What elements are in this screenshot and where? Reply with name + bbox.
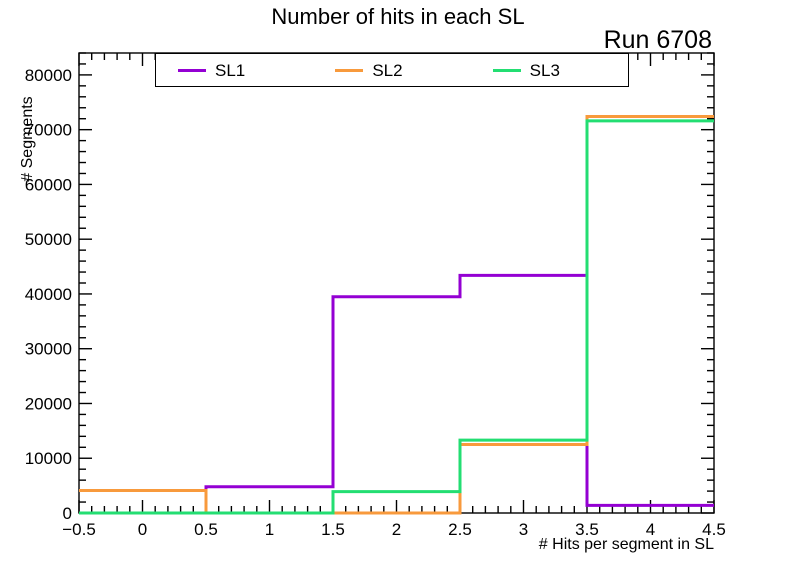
svg-text:30000: 30000 — [25, 340, 72, 359]
legend-entry-sl1: SL1 — [156, 62, 313, 79]
svg-text:50000: 50000 — [25, 230, 72, 249]
legend-swatch-sl1 — [178, 69, 206, 72]
chart-canvas: Number of hits in each SL Run 6708 # Seg… — [0, 0, 796, 572]
svg-text:0: 0 — [138, 520, 147, 539]
svg-text:60000: 60000 — [25, 175, 72, 194]
histogram-series — [79, 117, 714, 513]
svg-text:4.5: 4.5 — [702, 520, 726, 539]
legend: SL1 SL2 SL3 — [155, 53, 629, 87]
legend-swatch-sl2 — [335, 69, 363, 72]
svg-text:70000: 70000 — [25, 121, 72, 140]
svg-text:2: 2 — [392, 520, 401, 539]
svg-text:1: 1 — [265, 520, 274, 539]
legend-label-sl3: SL3 — [530, 62, 560, 79]
legend-label-sl2: SL2 — [372, 62, 402, 79]
svg-text:10000: 10000 — [25, 449, 72, 468]
legend-entry-sl2: SL2 — [313, 62, 470, 79]
svg-text:3: 3 — [519, 520, 528, 539]
svg-text:20000: 20000 — [25, 394, 72, 413]
legend-entry-sl3: SL3 — [471, 62, 628, 79]
svg-text:40000: 40000 — [25, 285, 72, 304]
svg-text:0.5: 0.5 — [194, 520, 218, 539]
legend-label-sl1: SL1 — [215, 62, 245, 79]
svg-text:1.5: 1.5 — [321, 520, 345, 539]
svg-text:80000: 80000 — [25, 66, 72, 85]
svg-text:3.5: 3.5 — [575, 520, 599, 539]
legend-swatch-sl3 — [493, 69, 521, 72]
svg-text:4: 4 — [646, 520, 655, 539]
y-tick-labels: 0100002000030000400005000060000700008000… — [25, 66, 72, 523]
x-tick-labels: −0.500.511.522.533.544.5 — [62, 520, 726, 539]
svg-text:−0.5: −0.5 — [62, 520, 96, 539]
svg-text:2.5: 2.5 — [448, 520, 472, 539]
